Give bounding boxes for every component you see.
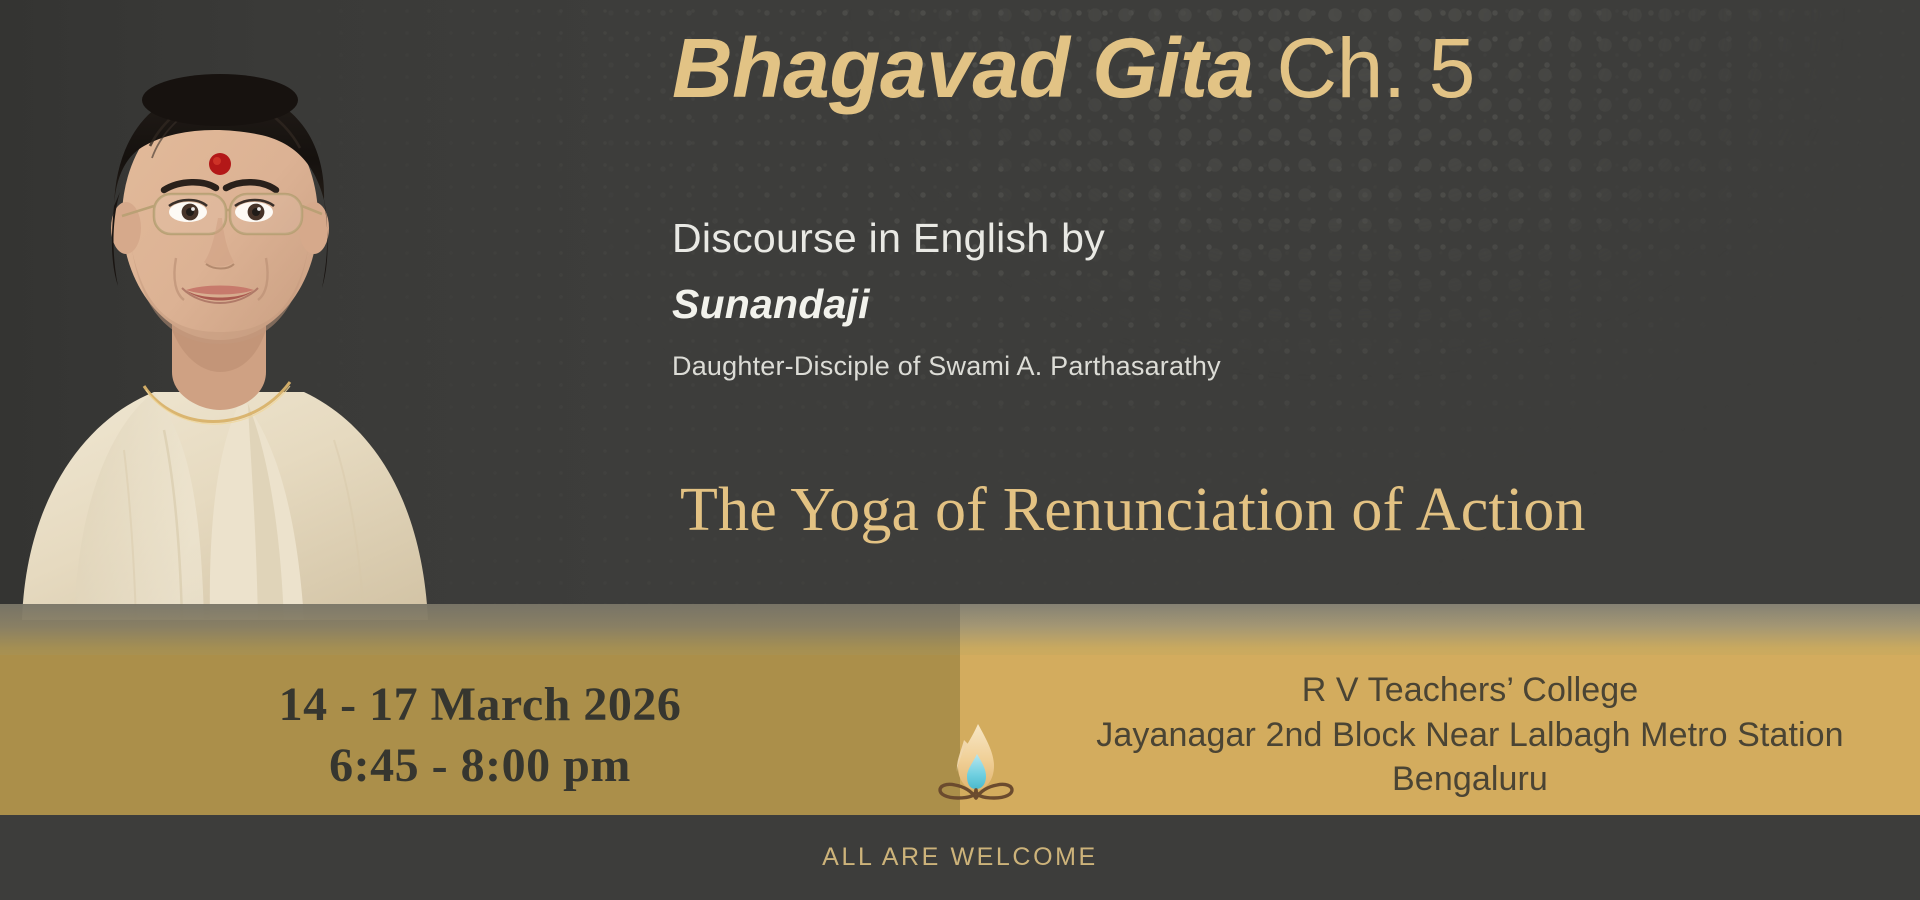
band-blend-strip-right bbox=[960, 604, 1920, 660]
event-time: 6:45 - 8:00 pm bbox=[329, 735, 631, 796]
venue-address: Jayanagar 2nd Block Near Lalbagh Metro S… bbox=[1096, 713, 1843, 758]
title-chapter: Ch. 5 bbox=[1254, 21, 1475, 115]
discourse-line: Discourse in English by bbox=[672, 215, 1105, 262]
speaker-lineage: Daughter-Disciple of Swami A. Parthasara… bbox=[672, 351, 1221, 382]
diya-lamp-icon bbox=[928, 718, 1024, 810]
footer-bar: ALL ARE WELCOME bbox=[0, 815, 1920, 900]
venue-panel: R V Teachers’ College Jayanagar 2nd Bloc… bbox=[960, 655, 1920, 815]
footer-welcome-text: ALL ARE WELCOME bbox=[822, 843, 1098, 872]
event-banner: Bhagavad Gita Ch. 5 Discourse in English… bbox=[0, 0, 1920, 900]
speaker-name: Sunandaji bbox=[672, 281, 870, 328]
chapter-subtitle: The Yoga of Renunciation of Action bbox=[680, 475, 1586, 546]
event-dates: 14 - 17 March 2026 bbox=[279, 674, 682, 735]
banner-content: Bhagavad Gita Ch. 5 Discourse in English… bbox=[672, 0, 1912, 620]
venue-city: Bengaluru bbox=[1392, 757, 1548, 802]
speaker-portrait bbox=[4, 0, 434, 620]
venue-name: R V Teachers’ College bbox=[1302, 668, 1639, 713]
page-title: Bhagavad Gita Ch. 5 bbox=[672, 24, 1475, 112]
schedule-panel: 14 - 17 March 2026 6:45 - 8:00 pm bbox=[0, 655, 960, 815]
title-emphasis: Bhagavad Gita bbox=[672, 21, 1254, 115]
